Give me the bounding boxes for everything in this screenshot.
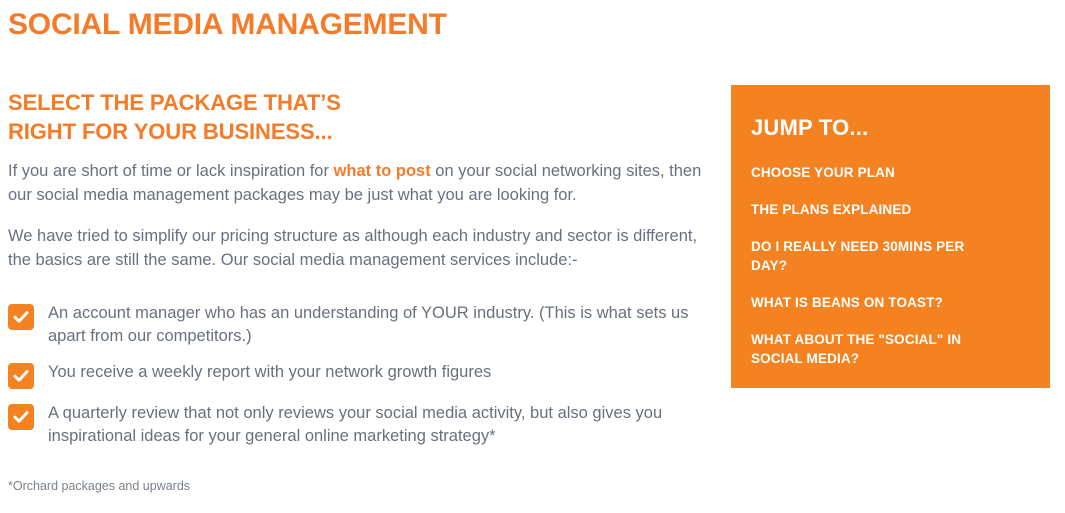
intro-paragraph-1: If you are short of time or lack inspira… xyxy=(8,146,708,207)
jump-link-choose-your-plan[interactable]: CHOOSE YOUR PLAN xyxy=(751,163,895,182)
intro-paragraph-1-text-before: If you are short of time or lack inspira… xyxy=(8,162,334,180)
services-checklist: An account manager who has an understand… xyxy=(8,272,708,448)
section-heading: SELECT THE PACKAGE THAT’S RIGHT FOR YOUR… xyxy=(8,42,438,146)
jump-to-list-item: THE PLANS EXPLAINED xyxy=(751,200,1030,219)
jump-link-beans-on-toast[interactable]: WHAT IS BEANS ON TOAST? xyxy=(751,293,943,312)
list-item: A quarterly review that not only reviews… xyxy=(8,402,708,448)
checkmark-icon xyxy=(8,404,34,430)
jump-to-list-item: WHAT ABOUT THE "SOCIAL" IN SOCIAL MEDIA? xyxy=(751,330,1030,368)
main-content-column: SOCIAL MEDIA MANAGEMENT SELECT THE PACKA… xyxy=(8,0,708,494)
page-root: SOCIAL MEDIA MANAGEMENT SELECT THE PACKA… xyxy=(0,0,1065,513)
intro-paragraph-2: We have tried to simplify our pricing st… xyxy=(8,207,708,272)
jump-link-social-in-social-media[interactable]: WHAT ABOUT THE "SOCIAL" IN SOCIAL MEDIA? xyxy=(751,330,1001,368)
list-item-label: A quarterly review that not only reviews… xyxy=(48,402,696,448)
jump-to-list-item: WHAT IS BEANS ON TOAST? xyxy=(751,293,1030,312)
list-item-label: You receive a weekly report with your ne… xyxy=(48,361,491,384)
what-to-post-link[interactable]: what to post xyxy=(334,162,431,180)
list-item: You receive a weekly report with your ne… xyxy=(8,361,708,389)
jump-to-list-item: CHOOSE YOUR PLAN xyxy=(751,163,1030,182)
list-item-label: An account manager who has an understand… xyxy=(48,302,696,348)
footnote: *Orchard packages and upwards xyxy=(8,461,708,494)
section-heading-line-1: SELECT THE PACKAGE THAT’S xyxy=(8,90,341,115)
checkmark-icon xyxy=(8,304,34,330)
checkmark-icon xyxy=(8,363,34,389)
jump-to-link-list: CHOOSE YOUR PLAN THE PLANS EXPLAINED DO … xyxy=(751,141,1030,368)
jump-to-list-item: DO I REALLY NEED 30MINS PER DAY? xyxy=(751,237,1030,275)
jump-link-30mins-per-day[interactable]: DO I REALLY NEED 30MINS PER DAY? xyxy=(751,237,1001,275)
section-heading-line-2: RIGHT FOR YOUR BUSINESS... xyxy=(8,119,333,144)
page-title: SOCIAL MEDIA MANAGEMENT xyxy=(8,0,708,42)
jump-to-panel: JUMP TO... CHOOSE YOUR PLAN THE PLANS EX… xyxy=(731,85,1050,388)
jump-link-the-plans-explained[interactable]: THE PLANS EXPLAINED xyxy=(751,200,911,219)
jump-to-title: JUMP TO... xyxy=(751,107,1030,141)
list-item: An account manager who has an understand… xyxy=(8,302,708,348)
